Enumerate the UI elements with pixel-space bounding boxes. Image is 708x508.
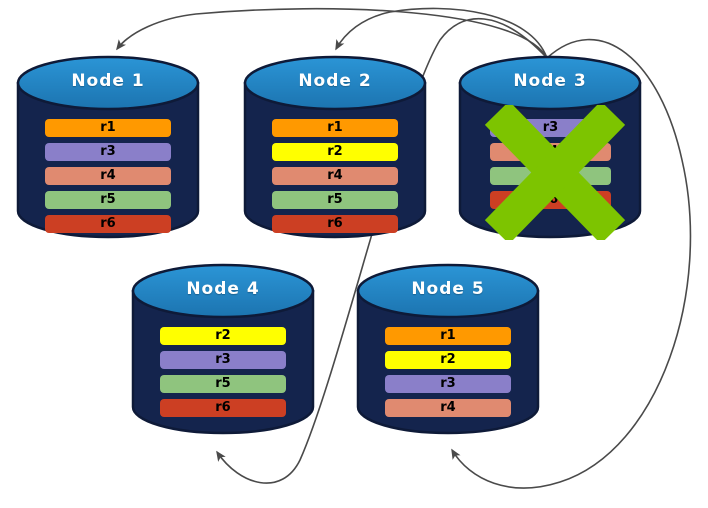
shard-r6[interactable]: r6 [160, 399, 286, 417]
shard-r2[interactable]: r2 [385, 351, 511, 369]
node-3-label: Node 3 [460, 71, 640, 91]
arrow-node3-to-node1 [117, 9, 547, 58]
shard-r5[interactable]: r5 [160, 375, 286, 393]
shard-r1[interactable]: r1 [385, 327, 511, 345]
shard-r3[interactable]: r3 [45, 143, 171, 161]
node-3[interactable]: Node 3r3r4r5r6 [460, 57, 640, 237]
shard-r5[interactable]: r5 [490, 167, 611, 185]
node-4[interactable]: Node 4r2r3r5r6 [133, 265, 313, 433]
shard-r3[interactable]: r3 [490, 119, 611, 137]
shard-r4[interactable]: r4 [45, 167, 171, 185]
shard-r3[interactable]: r3 [160, 351, 286, 369]
node-1[interactable]: Node 1r1r3r4r5r6 [18, 57, 198, 237]
shard-r2[interactable]: r2 [160, 327, 286, 345]
shard-r6[interactable]: r6 [272, 215, 398, 233]
node-4-label: Node 4 [133, 279, 313, 299]
node-5[interactable]: Node 5r1r2r3r4 [358, 265, 538, 433]
node-1-label: Node 1 [18, 71, 198, 91]
node-5-label: Node 5 [358, 279, 538, 299]
shard-r5[interactable]: r5 [45, 191, 171, 209]
shard-r1[interactable]: r1 [272, 119, 398, 137]
shard-r4[interactable]: r4 [272, 167, 398, 185]
shard-r5[interactable]: r5 [272, 191, 398, 209]
shard-r4[interactable]: r4 [385, 399, 511, 417]
node-2-label: Node 2 [245, 71, 425, 91]
shard-r2[interactable]: r2 [272, 143, 398, 161]
shard-r1[interactable]: r1 [45, 119, 171, 137]
arrow-node3-to-node2 [336, 8, 547, 58]
shard-r3[interactable]: r3 [385, 375, 511, 393]
shard-r6[interactable]: r6 [45, 215, 171, 233]
shard-r4[interactable]: r4 [490, 143, 611, 161]
node-2[interactable]: Node 2r1r2r4r5r6 [245, 57, 425, 237]
diagram-canvas: Node 1r1r3r4r5r6Node 2r1r2r4r5r6Node 3r3… [0, 0, 708, 508]
shard-r6[interactable]: r6 [490, 191, 611, 209]
